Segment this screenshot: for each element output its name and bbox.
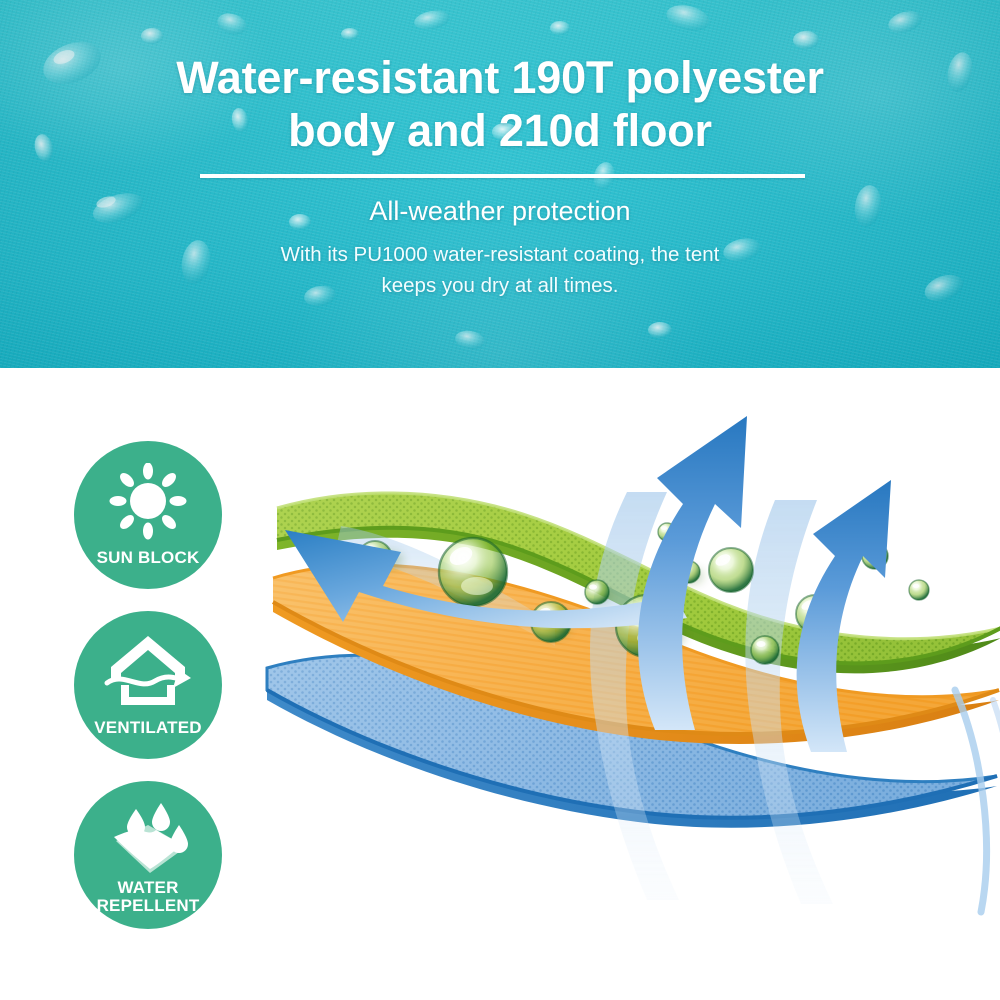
badge-water-repellent-label-line-1: WATER <box>74 879 222 897</box>
badge-ventilated-label: VENTILATED <box>74 719 222 737</box>
droplet-large <box>439 538 507 606</box>
hero-title-line-1: Water-resistant 190T polyester <box>110 52 890 105</box>
droplet-small-6 <box>751 636 779 664</box>
sun-icon <box>105 463 191 543</box>
house-airflow-icon <box>101 633 195 711</box>
airflow-trails <box>955 690 1000 924</box>
hero-subtitle: All-weather protection <box>0 196 1000 227</box>
feature-badges: SUN BLOCK VENTILATED WATER REPELLE <box>0 368 260 1000</box>
hero-title: Water-resistant 190T polyester body and … <box>0 52 1000 157</box>
badge-water-repellent[interactable]: WATER REPELLENT <box>74 781 222 929</box>
droplet-small-1 <box>585 580 609 604</box>
droplet-small-5 <box>909 580 929 600</box>
hero-description-line-2: keeps you dry at all times. <box>175 271 825 302</box>
hero-divider <box>200 174 805 178</box>
fabric-droplets-icon <box>100 803 196 881</box>
badge-sun-block[interactable]: SUN BLOCK <box>74 441 222 589</box>
badge-water-repellent-label-line-2: REPELLENT <box>74 897 222 915</box>
badge-water-repellent-label: WATER REPELLENT <box>74 879 222 915</box>
hero-description-line-1: With its PU1000 water-resistant coating,… <box>175 240 825 271</box>
badge-ventilated[interactable]: VENTILATED <box>74 611 222 759</box>
fabric-layers-diagram <box>255 400 1000 1000</box>
hero-description: With its PU1000 water-resistant coating,… <box>0 240 1000 302</box>
hero-title-line-2: body and 210d floor <box>110 105 890 158</box>
badge-sun-block-label: SUN BLOCK <box>74 549 222 567</box>
hero-banner: Water-resistant 190T polyester body and … <box>0 0 1000 368</box>
droplet-medium-3 <box>709 548 753 592</box>
